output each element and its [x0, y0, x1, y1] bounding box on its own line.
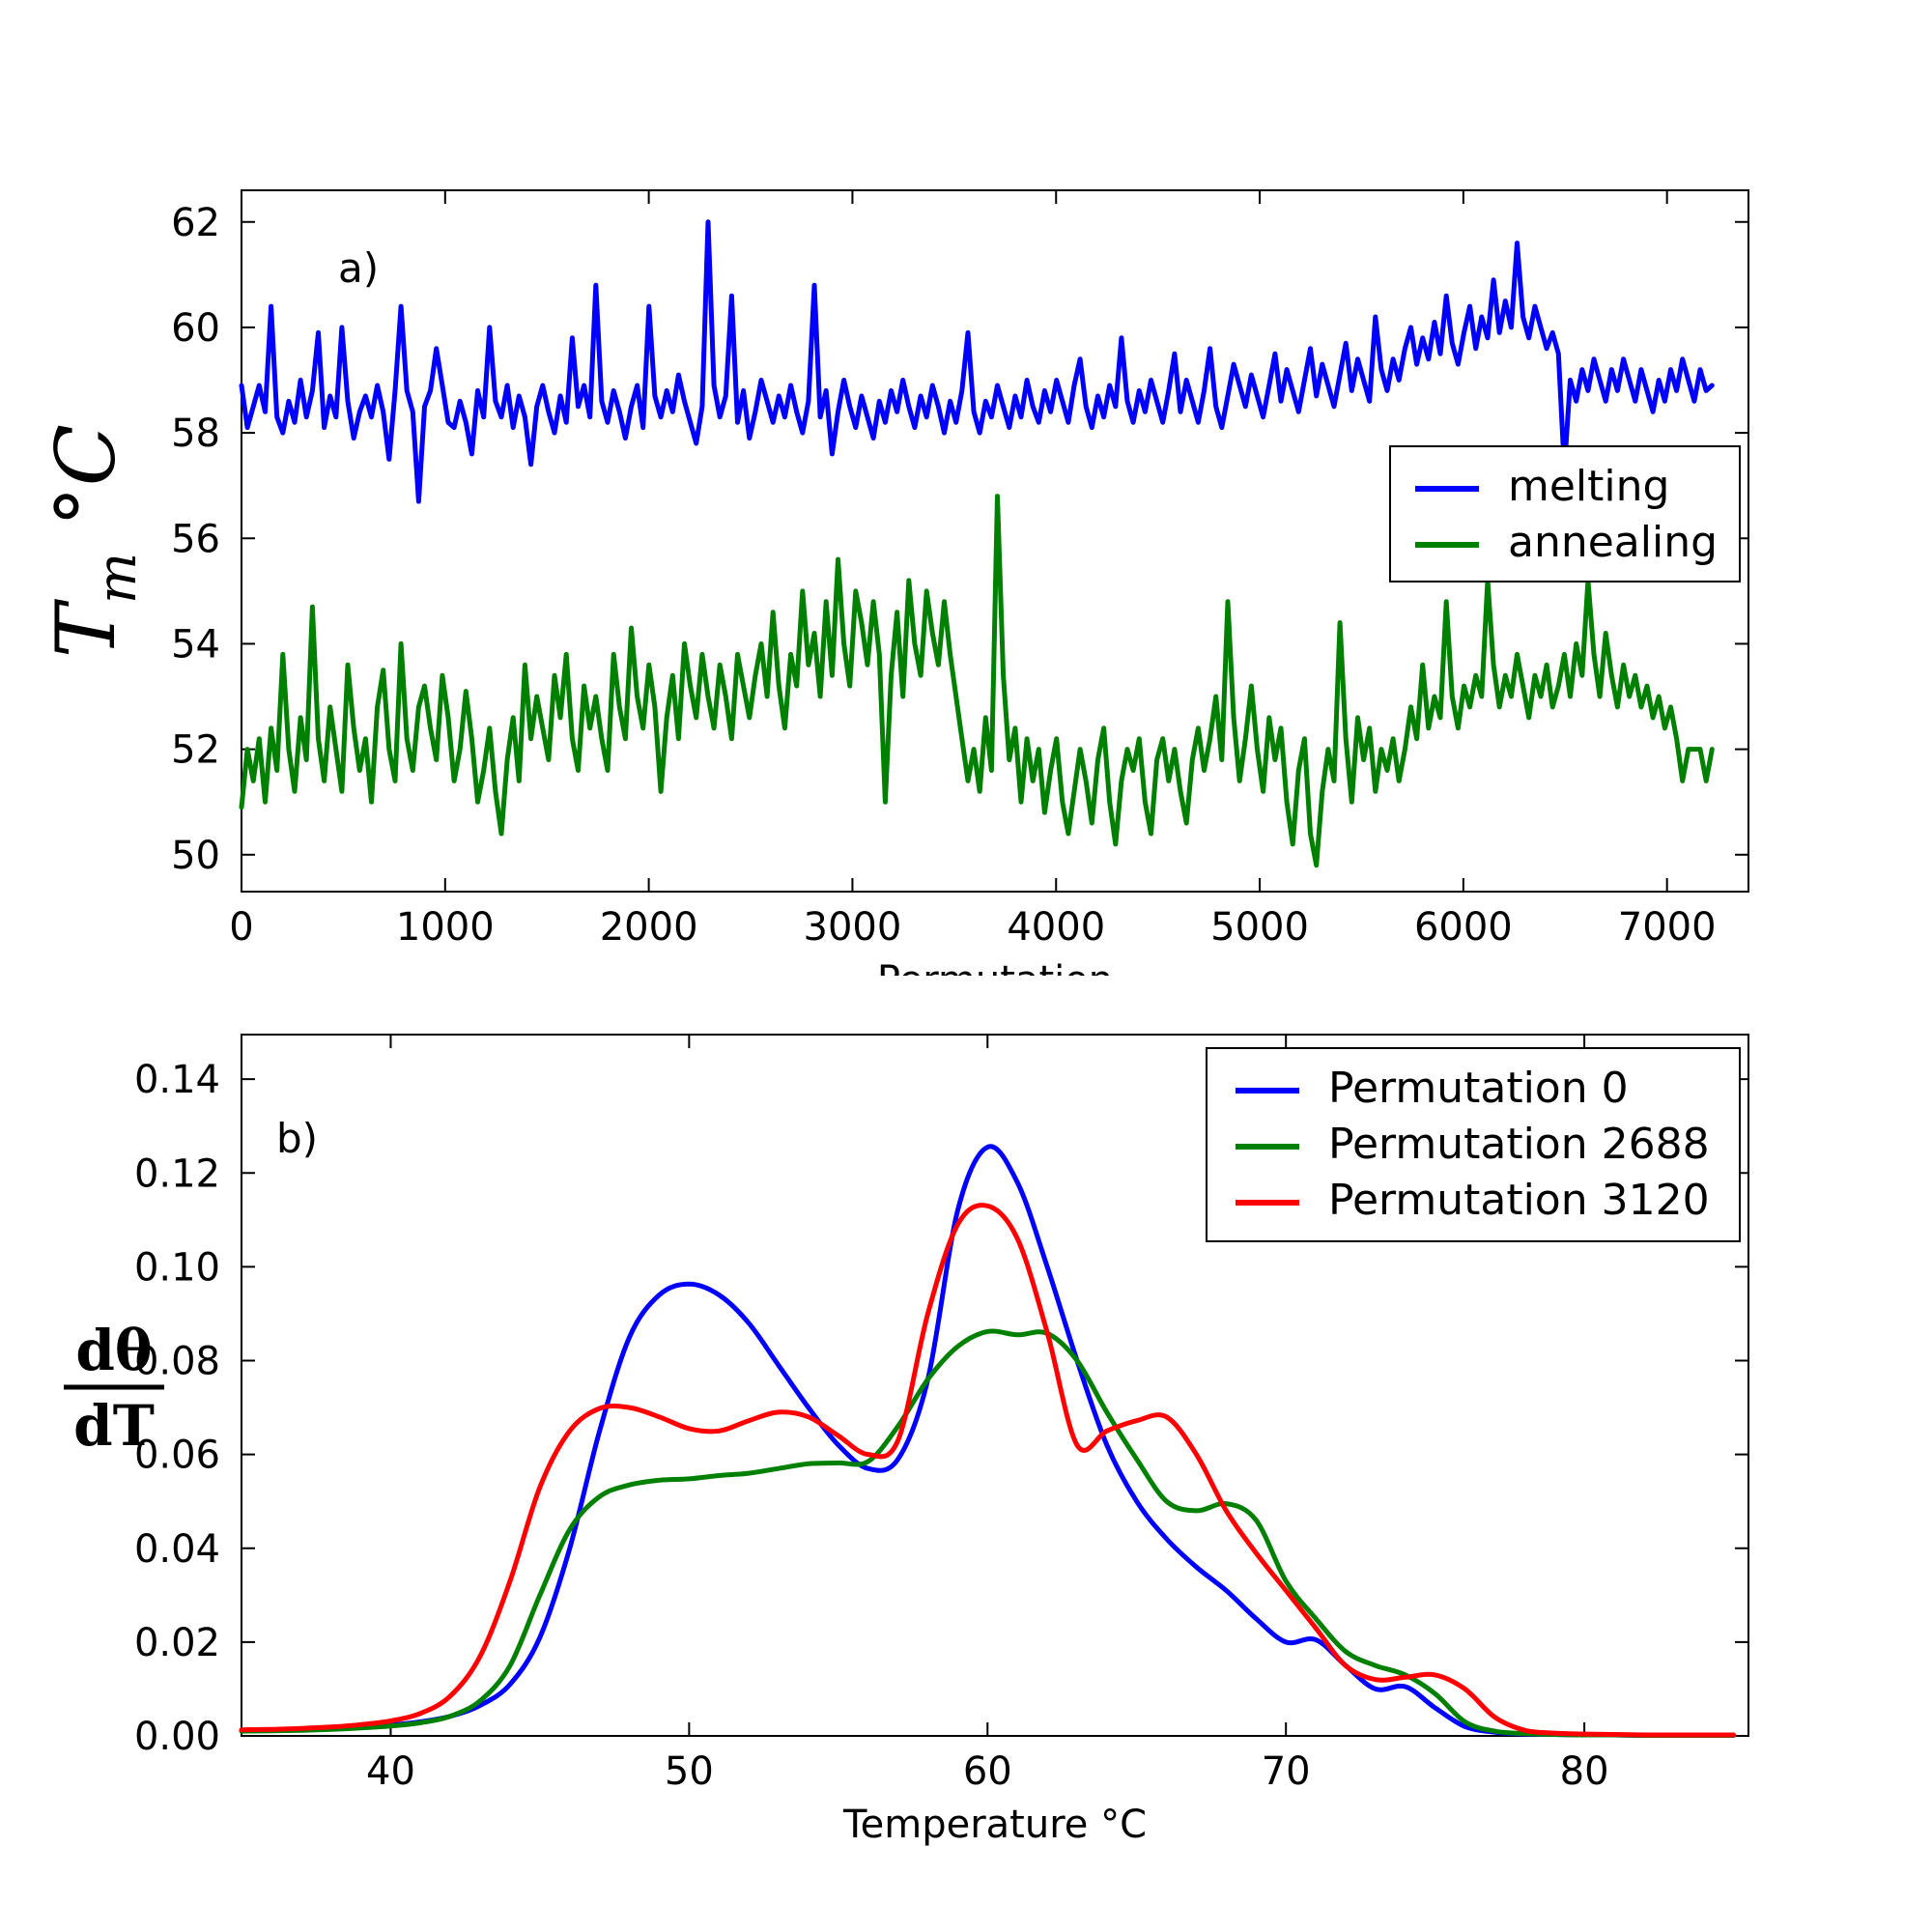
x-tick-label: 50 — [665, 1749, 714, 1794]
x-tick-label: 0 — [229, 905, 253, 950]
x-tick-label: 40 — [366, 1749, 415, 1794]
x-tick-label: 5000 — [1210, 905, 1309, 950]
panel-b-y-axis-title: dθdT — [64, 1318, 164, 1459]
x-tick-label: 60 — [963, 1749, 1012, 1794]
x-tick-label: 4000 — [1007, 905, 1105, 950]
series-line-permutation-2688 — [241, 1331, 1734, 1736]
y-axis-denominator: dT — [73, 1393, 155, 1459]
y-tick-label: 0.14 — [134, 1058, 220, 1102]
y-tick-label: 54 — [171, 622, 220, 667]
x-tick-label: 80 — [1560, 1749, 1609, 1794]
panel-b-x-axis-title: Temperature °C — [842, 1803, 1147, 1847]
x-tick-label: 2000 — [600, 905, 698, 950]
legend-label-2: Permutation 3120 — [1328, 1176, 1710, 1225]
x-tick-label: 6000 — [1414, 905, 1513, 950]
y-tick-label: 0.12 — [134, 1151, 220, 1196]
x-tick-label: 1000 — [396, 905, 495, 950]
panel-a-svg: 5052545658606201000200030004000500060007… — [0, 0, 1932, 976]
y-tick-label: 56 — [171, 517, 220, 561]
y-tick-label: 0.04 — [134, 1527, 220, 1572]
series-line-permutation-3120 — [241, 1206, 1734, 1735]
y-tick-label: 60 — [171, 306, 220, 351]
y-axis-numerator: dθ — [75, 1318, 152, 1383]
legend-label-0: Permutation 0 — [1328, 1064, 1629, 1113]
x-tick-label: 70 — [1262, 1749, 1311, 1794]
y-tick-label: 52 — [171, 728, 220, 773]
legend-label-0: melting — [1508, 462, 1669, 511]
panel-a-melting-annealing: 5052545658606201000200030004000500060007… — [0, 0, 1932, 976]
y-tick-label: 0.10 — [134, 1245, 220, 1290]
panel-b-label: b) — [276, 1115, 318, 1162]
legend-label-1: Permutation 2688 — [1328, 1120, 1710, 1169]
x-tick-label: 7000 — [1618, 905, 1717, 950]
y-tick-label: 0.02 — [134, 1621, 220, 1665]
y-axis-math-label: Tm °C — [39, 424, 149, 658]
panel-a-label: a) — [338, 244, 379, 292]
panel-b-svg: 0.000.020.040.060.080.100.120.1440506070… — [0, 976, 1932, 1932]
panel-b-derivative-curves: 0.000.020.040.060.080.100.120.1440506070… — [0, 976, 1932, 1932]
panel-a-x-axis-title: Permutation — [877, 958, 1113, 976]
y-tick-label: 50 — [171, 834, 220, 878]
panel-a-y-axis-title: Tm °C — [39, 424, 149, 658]
legend-label-1: annealing — [1508, 518, 1718, 567]
y-tick-label: 0.00 — [134, 1715, 220, 1759]
x-tick-label: 3000 — [804, 905, 902, 950]
y-tick-label: 62 — [171, 201, 220, 245]
y-tick-label: 58 — [171, 412, 220, 456]
figure-canvas: 5052545658606201000200030004000500060007… — [0, 0, 1932, 1932]
